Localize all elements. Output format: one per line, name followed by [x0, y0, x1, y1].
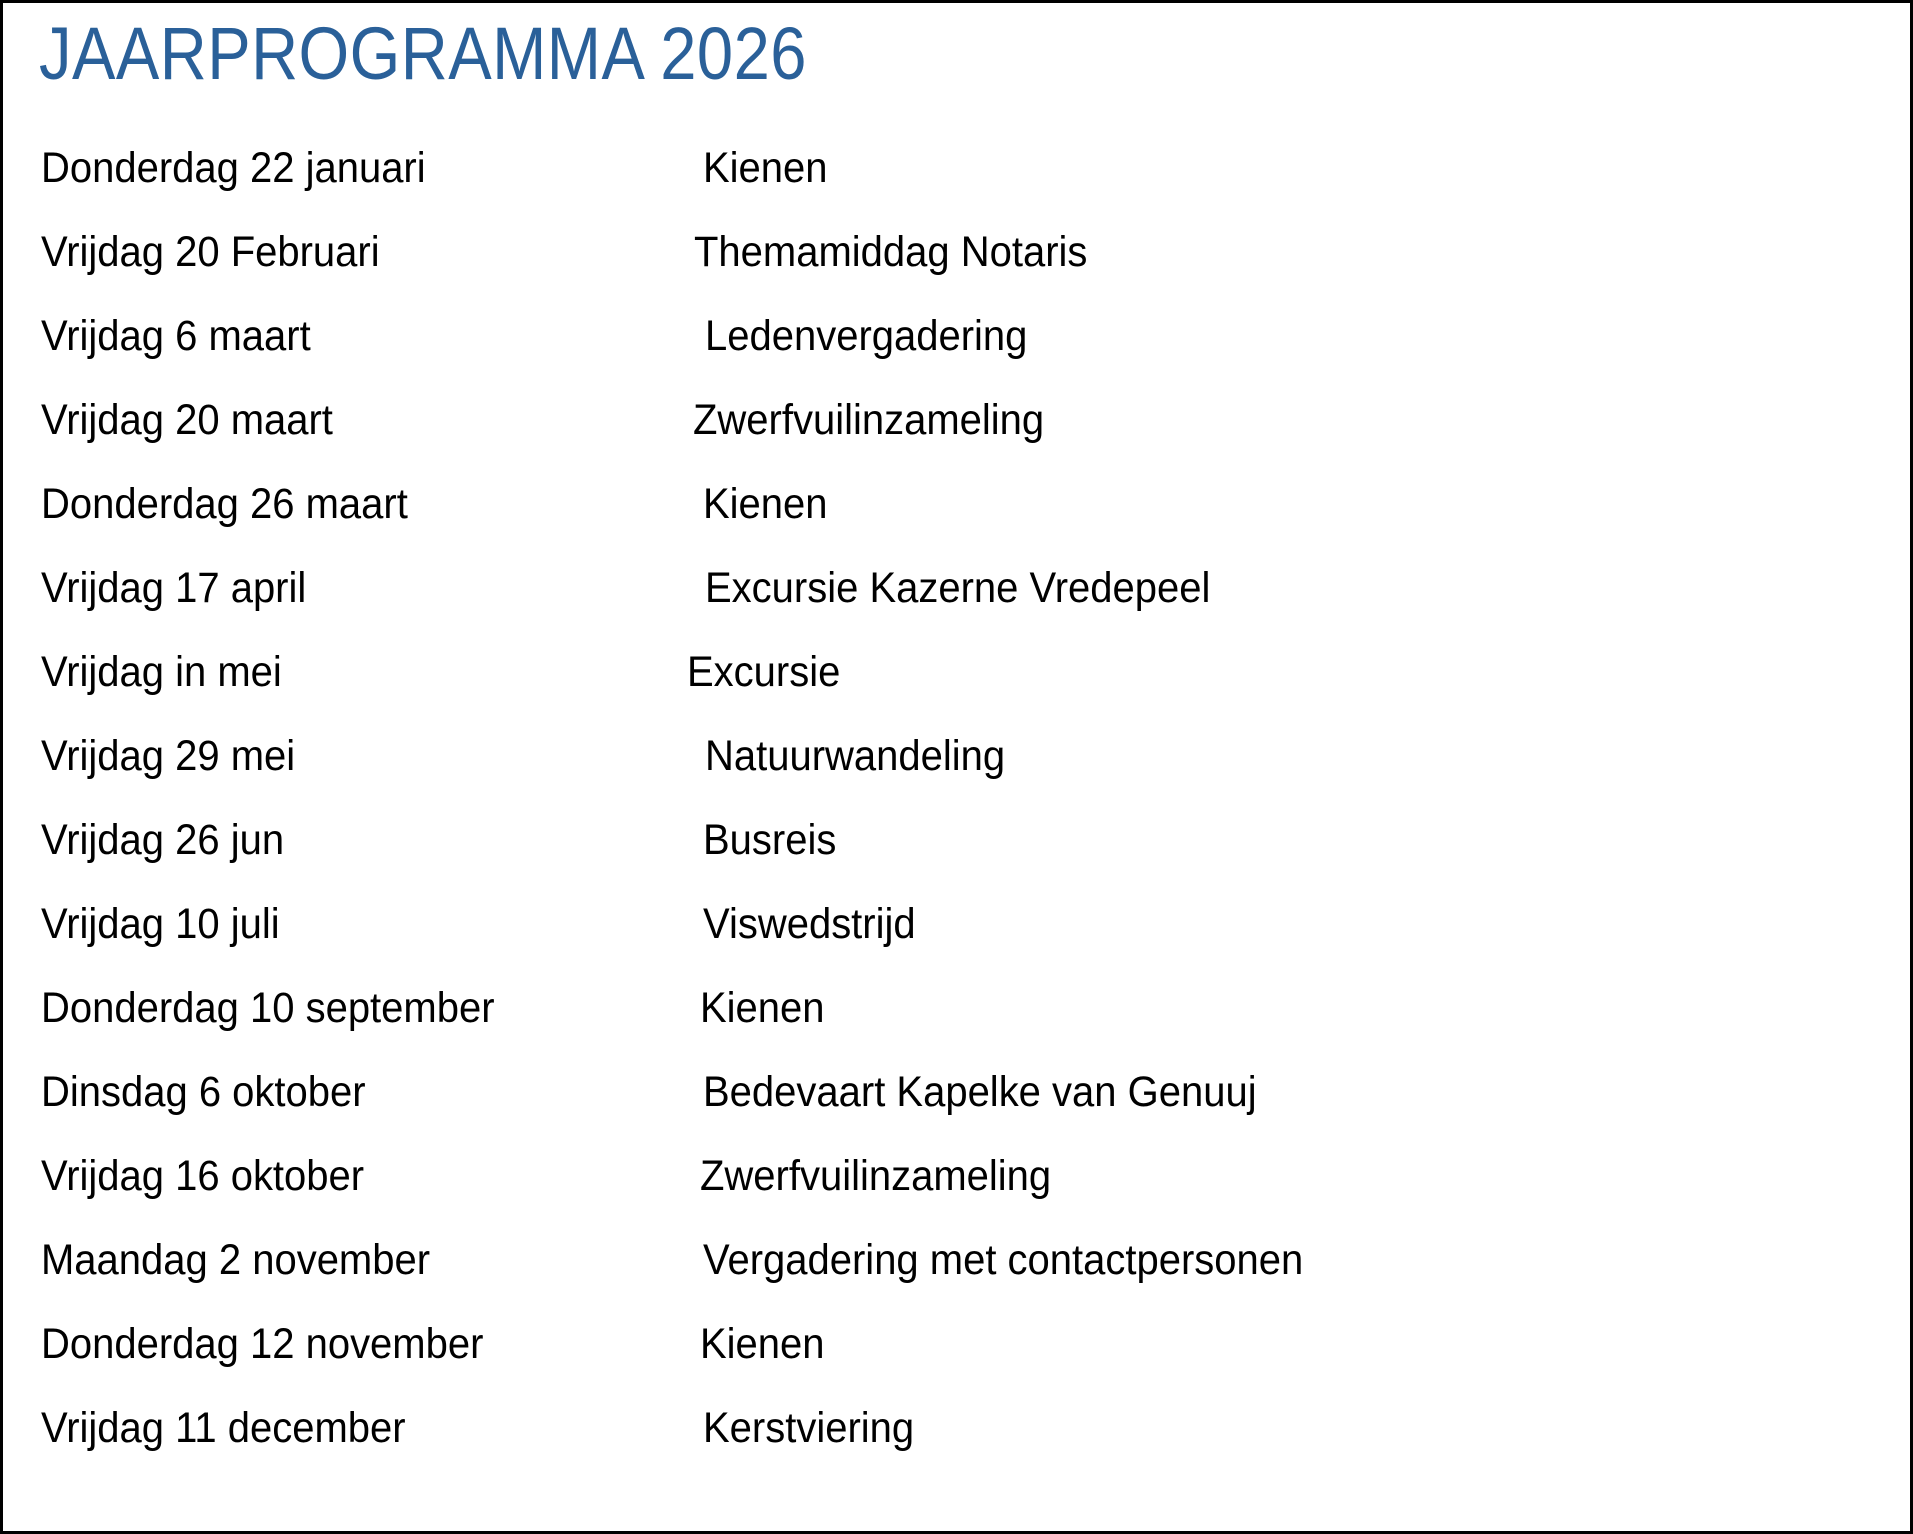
schedule-row-activity: Busreis [703, 798, 836, 882]
schedule-row-activity: Excursie [687, 630, 840, 714]
schedule-row-date: Vrijdag 26 jun [41, 798, 284, 882]
schedule-row: Dinsdag 6 oktoberBedevaart Kapelke van G… [3, 1050, 1910, 1134]
schedule-row-date: Maandag 2 november [41, 1218, 430, 1302]
schedule-row-date: Donderdag 22 januari [41, 126, 426, 210]
schedule-row-activity: Kienen [700, 1302, 825, 1386]
schedule-row: Donderdag 10 septemberKienen [3, 966, 1910, 1050]
schedule-row-activity: Kienen [700, 966, 825, 1050]
schedule-row: Vrijdag 20 maartZwerfvuilinzameling [3, 378, 1910, 462]
schedule-row-activity: Vergadering met contactpersonen [703, 1218, 1303, 1302]
schedule-row-date: Vrijdag 10 juli [41, 882, 280, 966]
schedule-row: Vrijdag 26 junBusreis [3, 798, 1910, 882]
page-title: JAARPROGRAMMA 2026 [39, 17, 807, 91]
jaarprogramma-page: JAARPROGRAMMA 2026 Donderdag 22 januariK… [0, 0, 1913, 1534]
schedule-row-activity: Viswedstrijd [703, 882, 916, 966]
schedule-row-date: Vrijdag 20 maart [41, 378, 333, 462]
schedule-row: Vrijdag 29 meiNatuurwandeling [3, 714, 1910, 798]
schedule-row-activity: Natuurwandeling [705, 714, 1005, 798]
schedule-row-activity: Bedevaart Kapelke van Genuuj [703, 1050, 1257, 1134]
schedule-row-date: Donderdag 10 september [41, 966, 495, 1050]
schedule-row: Vrijdag 11 decemberKerstviering [3, 1386, 1910, 1470]
schedule-row-date: Vrijdag 16 oktober [41, 1134, 364, 1218]
schedule-row-activity: Ledenvergadering [705, 294, 1027, 378]
schedule-row: Vrijdag 20 FebruariThemamiddag Notaris [3, 210, 1910, 294]
schedule-row-date: Vrijdag 11 december [41, 1386, 406, 1470]
schedule-row-activity: Kienen [703, 462, 828, 546]
schedule-row-activity: Kerstviering [703, 1386, 914, 1470]
schedule-row: Donderdag 12 novemberKienen [3, 1302, 1910, 1386]
schedule-row-activity: Zwerfvuilinzameling [700, 1134, 1051, 1218]
schedule-row: Donderdag 26 maartKienen [3, 462, 1910, 546]
schedule-row-activity: Kienen [703, 126, 828, 210]
schedule-row-date: Dinsdag 6 oktober [41, 1050, 366, 1134]
schedule-row-date: Donderdag 26 maart [41, 462, 408, 546]
schedule-row-date: Vrijdag 20 Februari [41, 210, 380, 294]
schedule-row: Vrijdag 6 maartLedenvergadering [3, 294, 1910, 378]
schedule-row-activity: Excursie Kazerne Vredepeel [705, 546, 1210, 630]
schedule-row-activity: Zwerfvuilinzameling [693, 378, 1044, 462]
schedule-list: Donderdag 22 januariKienenVrijdag 20 Feb… [3, 126, 1910, 1470]
schedule-row-date: Vrijdag 6 maart [41, 294, 311, 378]
schedule-row: Vrijdag 10 juliViswedstrijd [3, 882, 1910, 966]
schedule-row: Vrijdag 16 oktoberZwerfvuilinzameling [3, 1134, 1910, 1218]
schedule-row-date: Donderdag 12 november [41, 1302, 483, 1386]
schedule-row: Vrijdag 17 aprilExcursie Kazerne Vredepe… [3, 546, 1910, 630]
schedule-row-date: Vrijdag 29 mei [41, 714, 295, 798]
schedule-row-activity: Themamiddag Notaris [694, 210, 1087, 294]
schedule-row: Vrijdag in meiExcursie [3, 630, 1910, 714]
schedule-row-date: Vrijdag 17 april [41, 546, 306, 630]
schedule-row: Maandag 2 novemberVergadering met contac… [3, 1218, 1910, 1302]
schedule-row: Donderdag 22 januariKienen [3, 126, 1910, 210]
schedule-row-date: Vrijdag in mei [41, 630, 282, 714]
